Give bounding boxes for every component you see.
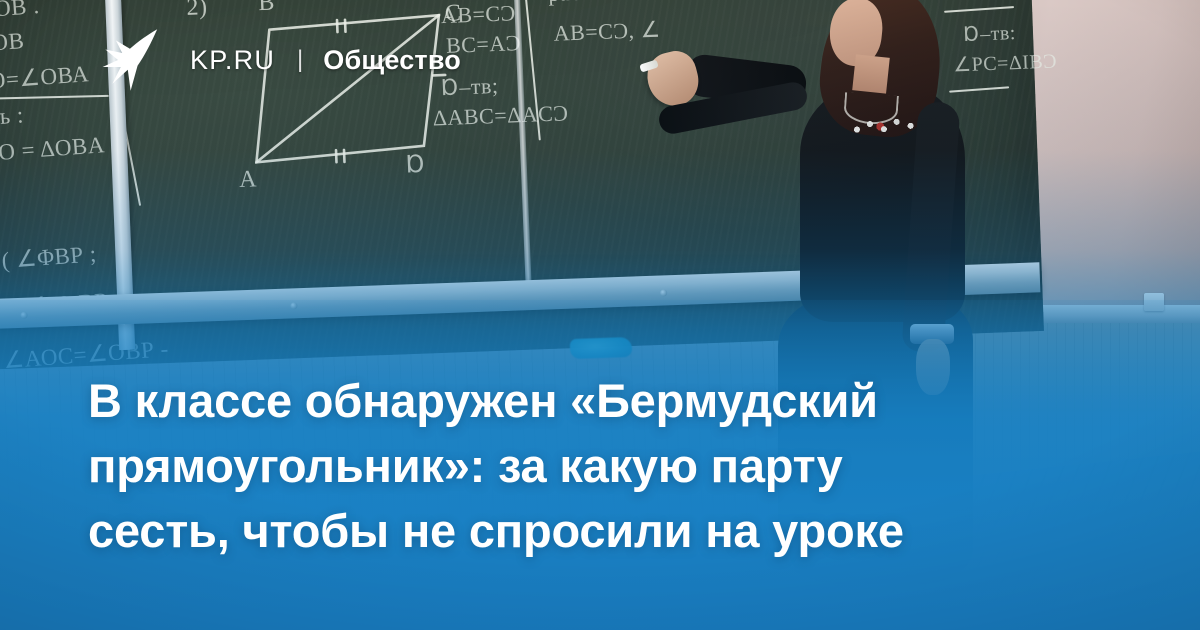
social-share-card: ОВ . ОВ О=∠ОВА ъ : ιΟ = ΔΟΒΑ ( ∠ΦΒΡ ; Ο=… bbox=[0, 0, 1200, 630]
brand-separator: | bbox=[297, 46, 303, 74]
headline-line-1: В классе обнаружен «Бермудский bbox=[88, 368, 1118, 433]
kp-swallow-bird-icon[interactable] bbox=[96, 25, 168, 95]
headline: В классе обнаружен «Бермудский прямоугол… bbox=[88, 368, 1118, 563]
brand-bar: KP.RU | Общество bbox=[96, 28, 461, 92]
headline-line-2: прямоугольник»: за какую парту bbox=[88, 433, 1118, 498]
brand-name: KP.RU bbox=[190, 45, 275, 76]
rubric-label[interactable]: Общество bbox=[323, 45, 461, 76]
headline-line-3: сесть, чтобы не спросили на уроке bbox=[88, 498, 1118, 563]
